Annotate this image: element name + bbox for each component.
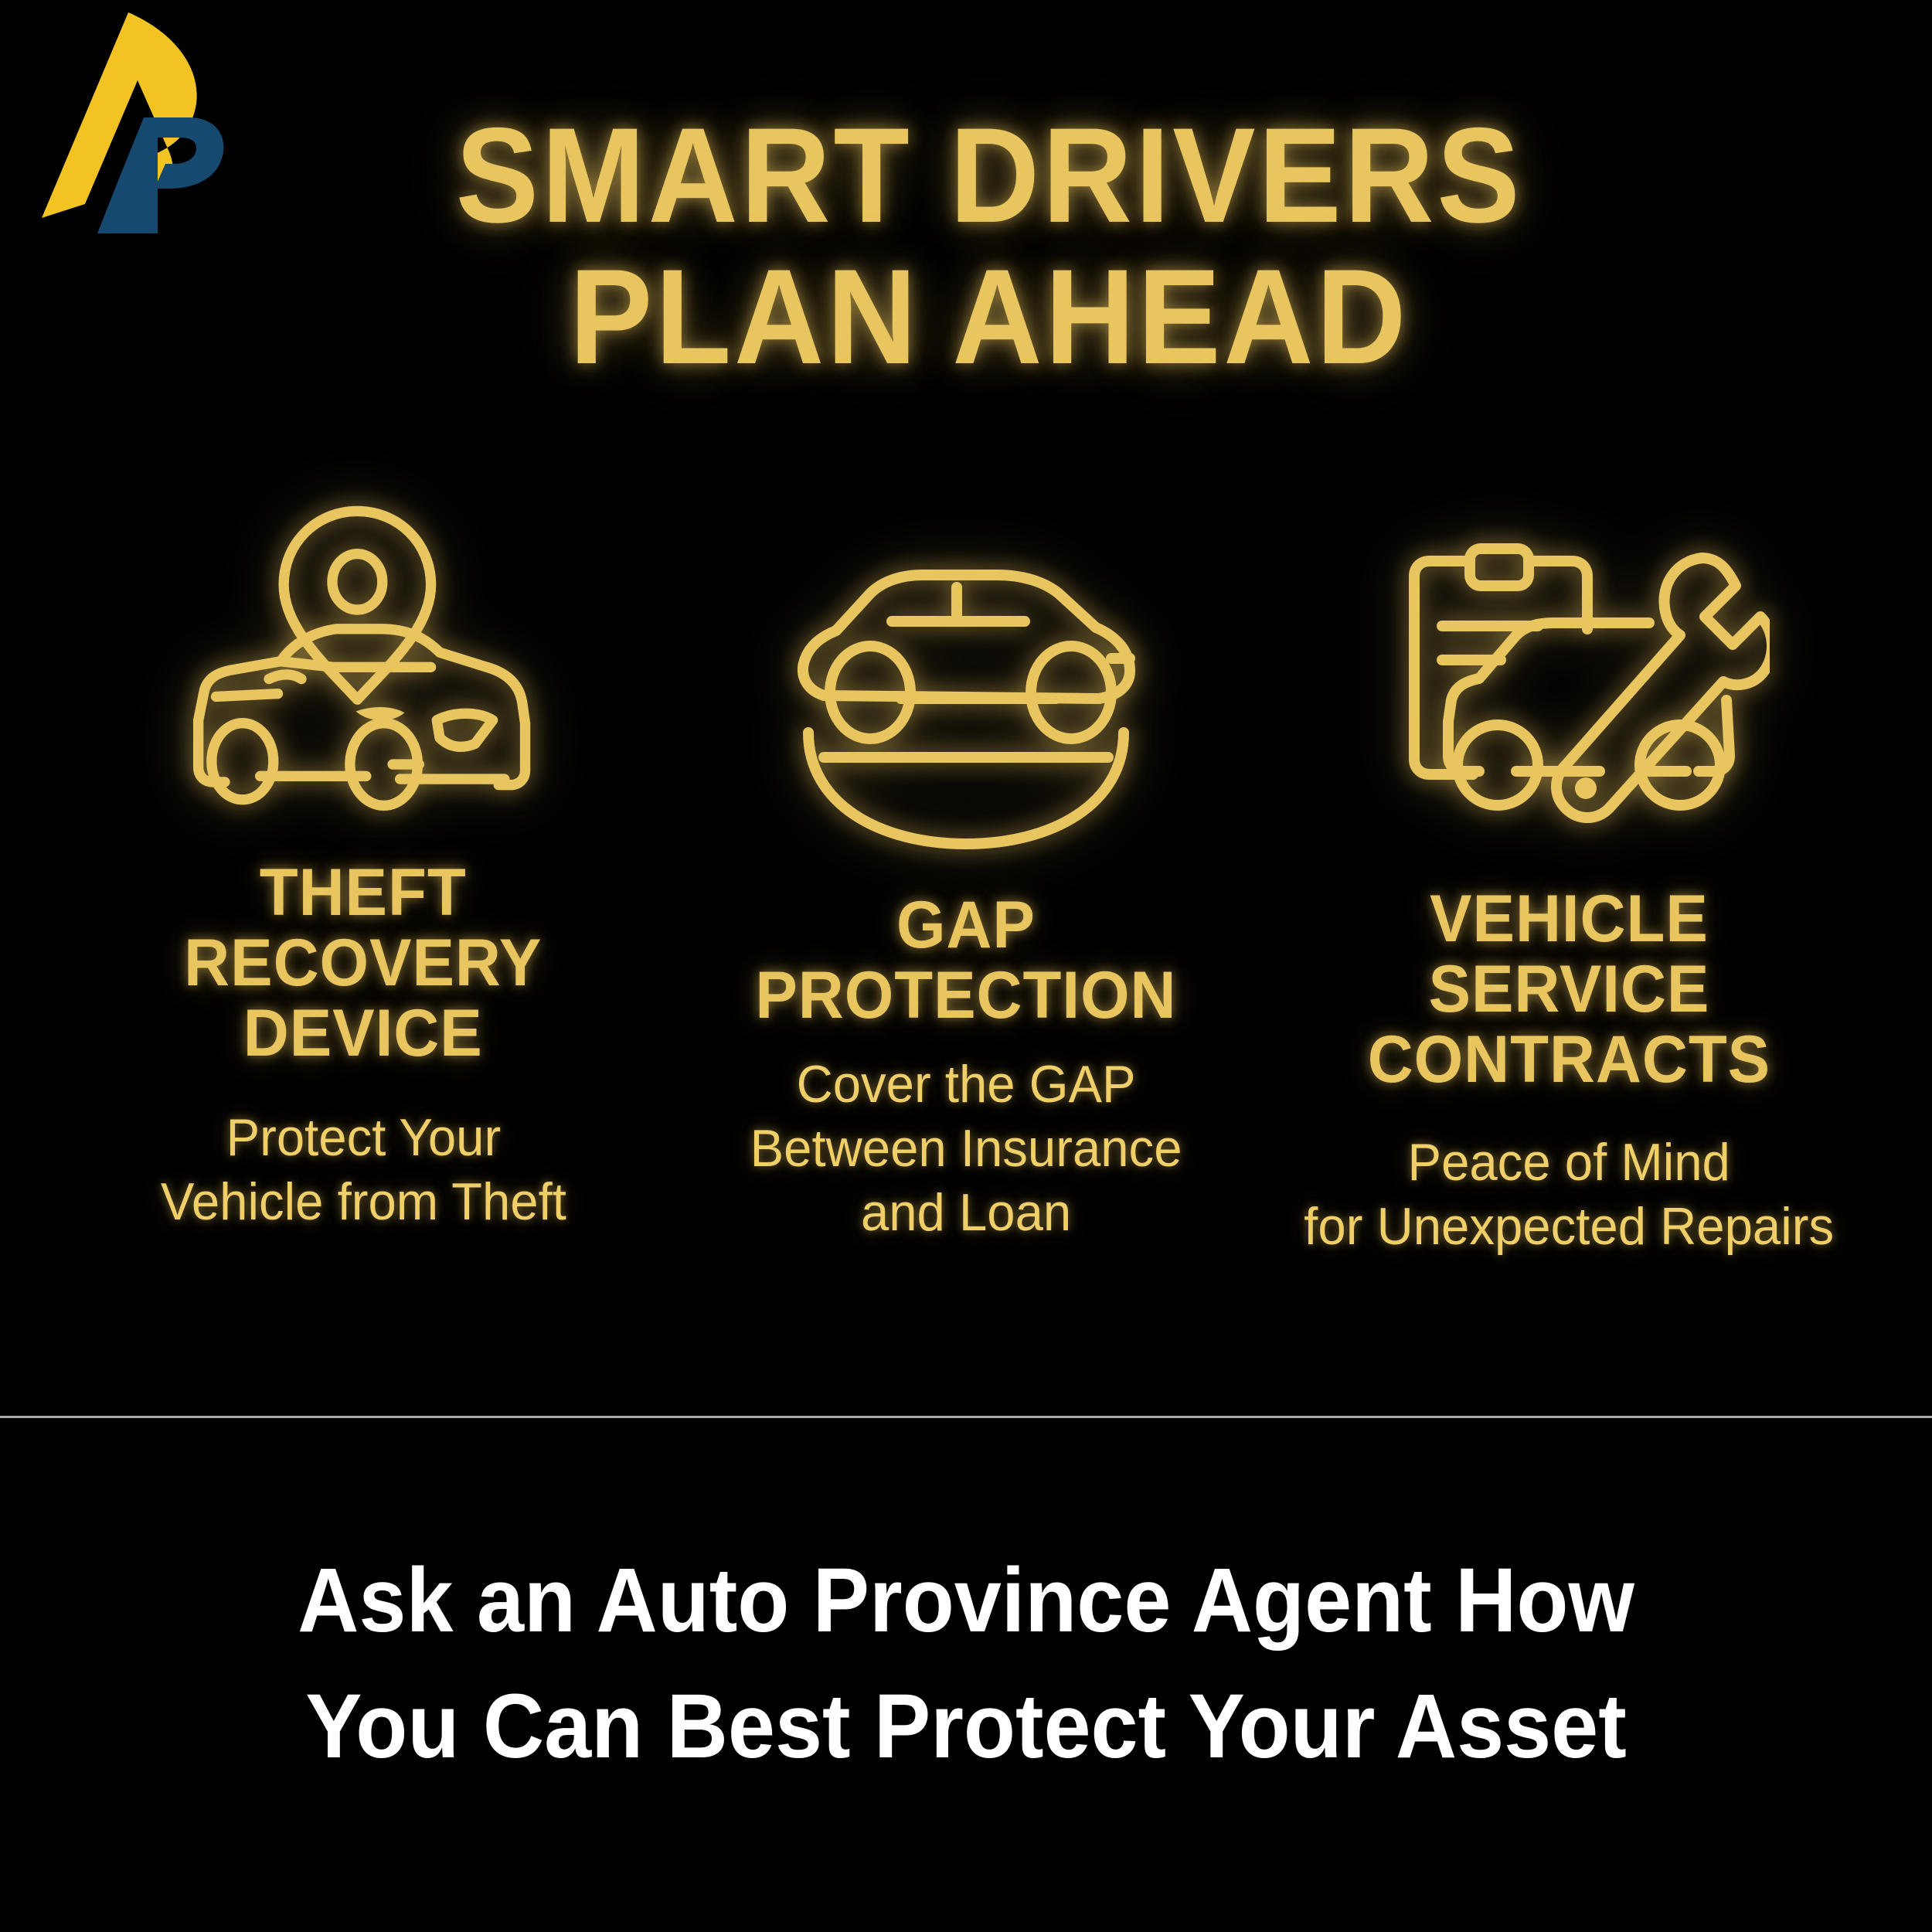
cta-line-2: You Can Best Protect Your Asset [197, 1664, 1735, 1790]
feature-card-theft-recovery: THEFT RECOVERY DEVICE Protect Your Vehic… [62, 495, 665, 1234]
feature-title: GAP PROTECTION [755, 890, 1176, 1031]
car-location-pin-icon [162, 502, 564, 811]
feature-description: Cover the GAP Between Insurance and Loan [750, 1053, 1182, 1245]
feature-description: Protect Your Vehicle from Theft [161, 1106, 566, 1234]
headline-line-2: PLAN AHEAD [122, 250, 1857, 385]
feature-title: THEFT RECOVERY DEVICE [184, 858, 542, 1069]
feature-card-gap-protection: GAP PROTECTION Cover the GAP Between Ins… [665, 495, 1267, 1245]
car-in-bowl-icon [765, 541, 1167, 850]
headline-line-1: SMART DRIVERS [122, 108, 1857, 243]
feature-title: VEHICLE SERVICE CONTRACTS [1367, 884, 1770, 1095]
clipboard-car-wrench-icon [1368, 539, 1770, 849]
feature-row: THEFT RECOVERY DEVICE Protect Your Vehic… [0, 495, 1932, 1259]
call-to-action: Ask an Auto Province Agent How You Can B… [0, 1538, 1932, 1790]
page-title: SMART DRIVERS PLAN AHEAD [0, 108, 1932, 385]
feature-description: Peace of Mind for Unexpected Repairs [1304, 1131, 1834, 1259]
cta-line-1: Ask an Auto Province Agent How [197, 1538, 1735, 1664]
section-divider [0, 1416, 1932, 1418]
poster-canvas: SMART DRIVERS PLAN AHEAD [0, 0, 1932, 1932]
feature-card-vehicle-service: VEHICLE SERVICE CONTRACTS Peace of Mind … [1267, 495, 1870, 1259]
